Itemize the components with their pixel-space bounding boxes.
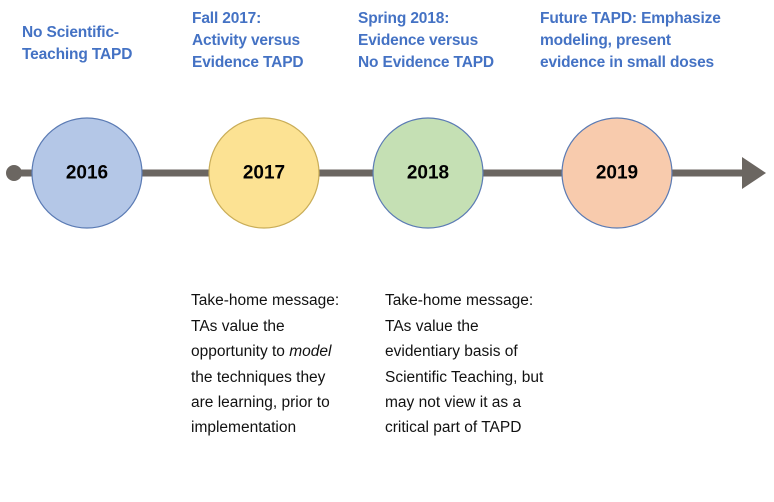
takehome-note-2017: Take-home message: TAs value the opportu… <box>191 263 341 441</box>
timeline-node-2016[interactable]: 2016 <box>32 118 142 228</box>
note-2017-tail: the techniques they are learning, prior … <box>191 369 330 437</box>
note-2018-lead: Take-home message: TAs value the evident… <box>385 292 543 436</box>
timeline-diagram: No Scientific- Teaching TAPD Fall 2017: … <box>0 0 774 502</box>
node-label-2017: 2017 <box>243 163 285 184</box>
header-caption-2016: No Scientific- Teaching TAPD <box>22 22 192 66</box>
node-label-2018: 2018 <box>407 163 449 184</box>
note-2017-emphasis: model <box>289 343 331 360</box>
timeline-arrow-icon <box>742 157 766 189</box>
takehome-note-2018: Take-home message: TAs value the evident… <box>385 263 545 441</box>
timeline-node-2017[interactable]: 2017 <box>209 118 319 228</box>
timeline-node-2018[interactable]: 2018 <box>373 118 483 228</box>
timeline-start-dot <box>6 165 22 181</box>
header-caption-2019: Future TAPD: Emphasize modeling, present… <box>540 8 772 74</box>
header-caption-2017: Fall 2017: Activity versus Evidence TAPD <box>192 8 352 74</box>
timeline-axis-group: 2016 2017 2018 2019 <box>0 110 774 242</box>
timeline-node-2019[interactable]: 2019 <box>562 118 672 228</box>
header-caption-2018: Spring 2018: Evidence versus No Evidence… <box>358 8 530 74</box>
node-label-2019: 2019 <box>596 163 638 184</box>
node-label-2016: 2016 <box>66 163 108 184</box>
